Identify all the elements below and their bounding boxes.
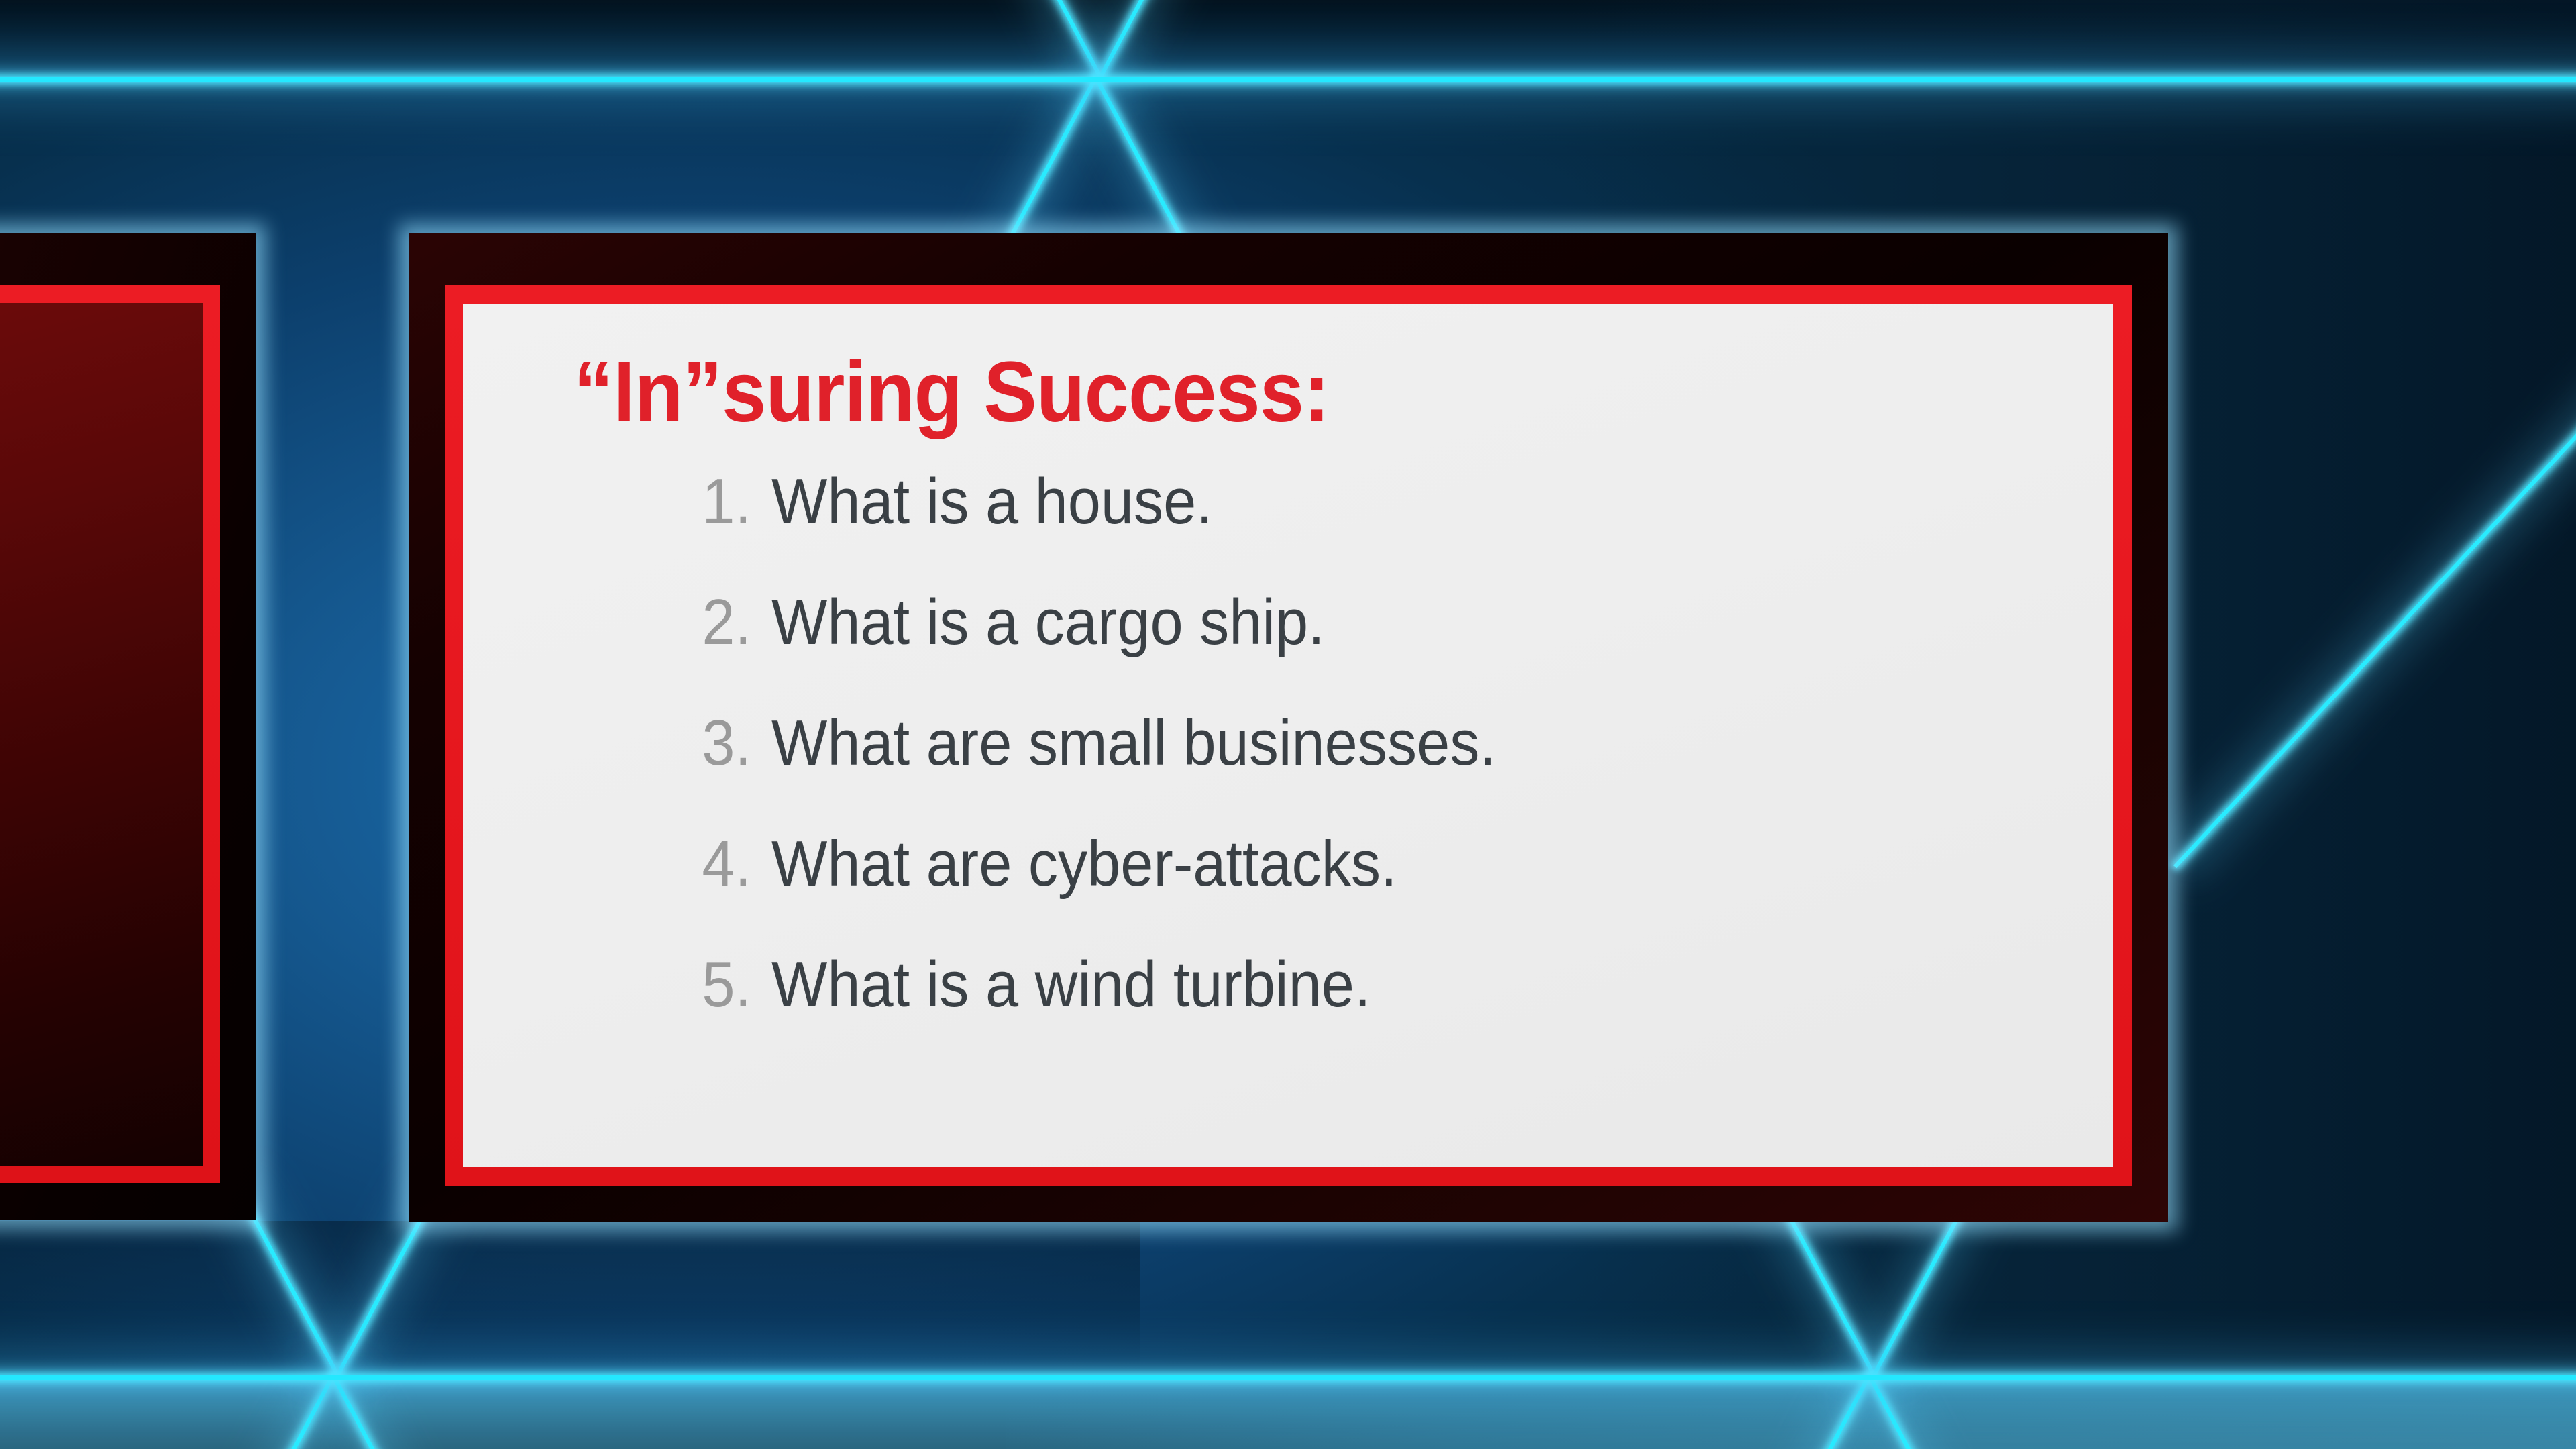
card-content: “In”suring Success: 1. What is a house. … (463, 285, 2113, 1169)
list-item-number: 3. (690, 711, 751, 775)
list-item[interactable]: 5. What is a wind turbine. (684, 953, 2026, 1073)
secondary-card-partial (0, 233, 256, 1220)
list-item[interactable]: 3. What are small businesses. (684, 711, 2026, 832)
list-item[interactable]: 1. What is a house. (684, 470, 2026, 590)
list-item-text: What is a wind turbine. (771, 953, 1371, 1017)
list-item-text: What are small businesses. (771, 711, 1496, 775)
list-item-text: What is a cargo ship. (771, 590, 1325, 655)
list-item-number: 2. (690, 590, 751, 655)
list-item[interactable]: 2. What is a cargo ship. (684, 590, 2026, 711)
list-item-number: 5. (690, 953, 751, 1017)
background-bottom-shadow (0, 1221, 1140, 1377)
card-inner-panel (0, 303, 203, 1166)
list-item-number: 4. (690, 832, 751, 896)
list-item-text: What are cyber-attacks. (771, 832, 1397, 896)
card-title: “In”suring Success: (574, 350, 1330, 435)
slide-stage: “In”suring Success: 1. What is a house. … (0, 0, 2576, 1449)
answers-list: 1. What is a house. 2. What is a cargo s… (684, 470, 2026, 1073)
list-item[interactable]: 4. What are cyber-attacks. (684, 832, 2026, 953)
list-item-number: 1. (690, 470, 751, 534)
list-item-text: What is a house. (771, 470, 1213, 534)
